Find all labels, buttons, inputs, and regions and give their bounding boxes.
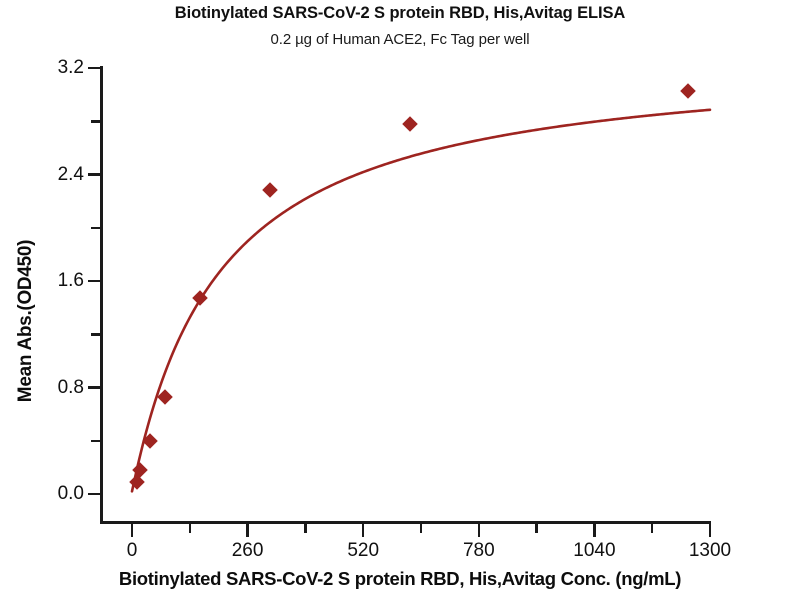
chart-container: Biotinylated SARS-CoV-2 S protein RBD, H…	[0, 0, 800, 600]
y-axis-title: Mean Abs.(OD450)	[15, 191, 37, 451]
plot-area: 0.00.81.62.43.2 026052078010401300 Mean …	[0, 0, 800, 600]
x-axis-title: Biotinylated SARS-CoV-2 S protein RBD, H…	[0, 568, 800, 590]
